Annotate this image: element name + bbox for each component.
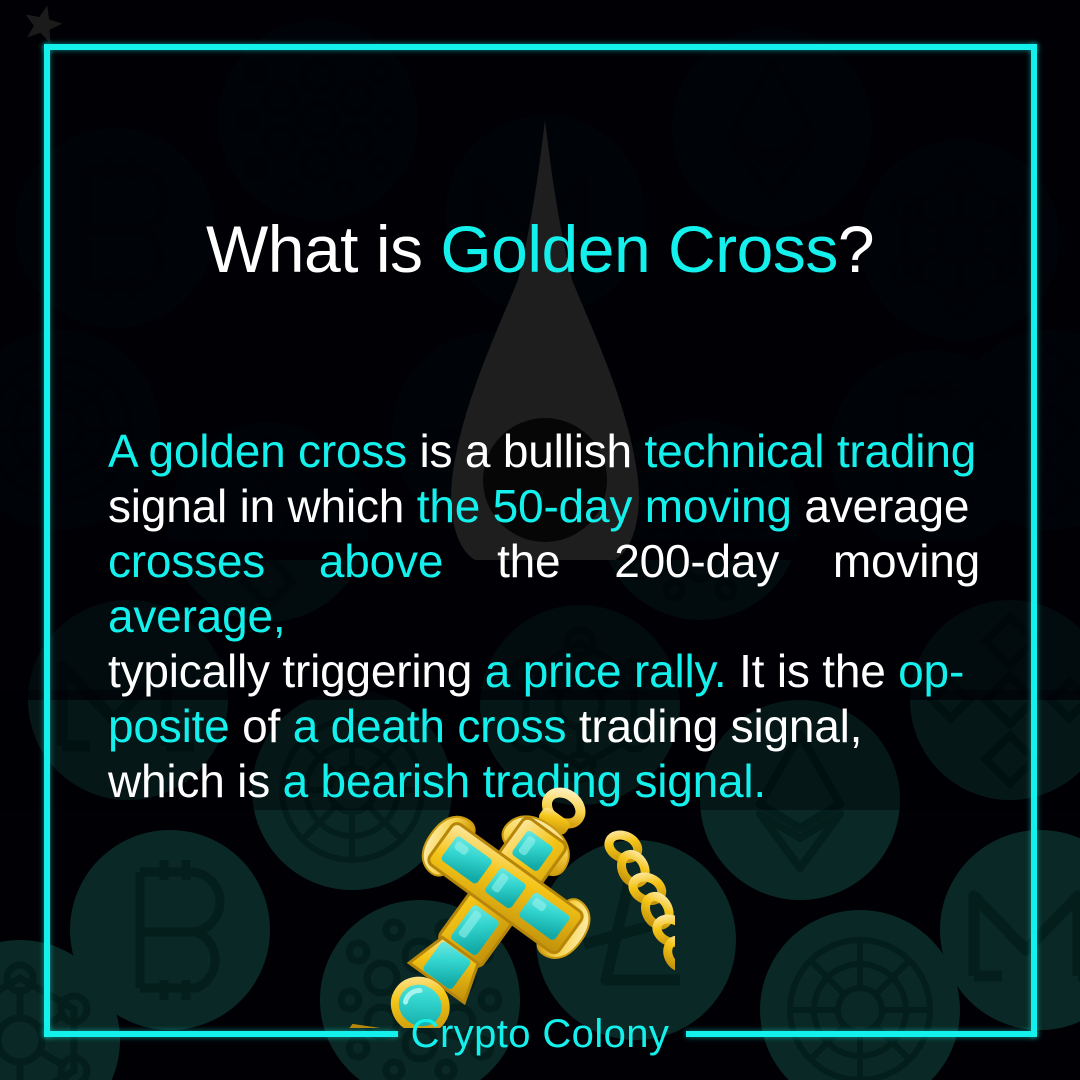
- brand-label: Crypto Colony: [411, 1012, 670, 1056]
- title-accent: Golden Cross: [440, 212, 838, 286]
- brand-footer: Crypto Colony: [0, 1010, 1080, 1058]
- body-segment: a death cross: [293, 700, 567, 752]
- title-suffix: ?: [838, 212, 874, 286]
- body-segment: signal in which: [108, 480, 417, 532]
- golden-cross-pendant-icon: [330, 758, 675, 1028]
- body-segment: posite: [108, 700, 230, 752]
- body-segment: a price rally.: [485, 645, 727, 697]
- body-line-3: crosses above the 200-day moving average…: [108, 534, 980, 644]
- page-title: What is Golden Cross?: [0, 216, 1080, 282]
- body-segment: A golden cross: [108, 425, 407, 477]
- body-segment: It is the: [727, 645, 899, 697]
- body-segment: typically triggering: [108, 645, 485, 697]
- body-segment: the 50-day moving: [417, 480, 792, 532]
- body-line-2: signal in which the 50-day moving averag…: [108, 479, 980, 534]
- body-segment: average,: [108, 590, 285, 642]
- body-segment: op-: [898, 645, 964, 697]
- body-segment: the 200-day moving: [443, 535, 980, 587]
- body-segment: average: [792, 480, 969, 532]
- body-line-4: typically triggering a price rally. It i…: [108, 644, 980, 699]
- star-icon: [22, 2, 64, 44]
- body-segment: is a bullish: [407, 425, 645, 477]
- body-segment: crosses above: [108, 535, 443, 587]
- body-segment: trading signal,: [566, 700, 862, 752]
- poster-canvas: What is Golden Cross? A golden cross is …: [0, 0, 1080, 1080]
- body-line-5: posite of a death cross trading signal,: [108, 699, 980, 754]
- body-segment: of: [230, 700, 293, 752]
- title-prefix: What is: [206, 212, 440, 286]
- body-line-1: A golden cross is a bullish technical tr…: [108, 424, 980, 479]
- body-segment: which is: [108, 755, 283, 807]
- body-segment: technical trading: [645, 425, 977, 477]
- body-paragraph: A golden cross is a bullish technical tr…: [108, 424, 980, 809]
